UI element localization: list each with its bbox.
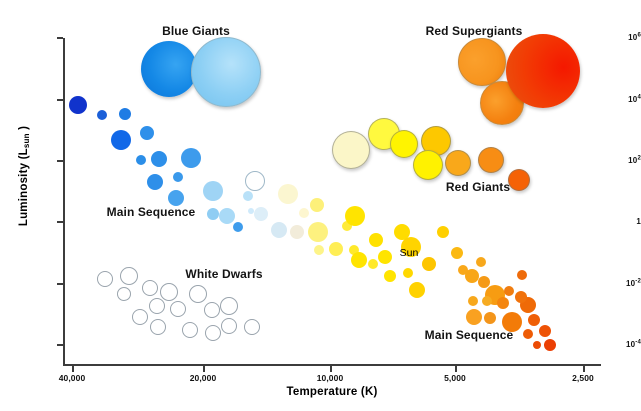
star-marker <box>243 191 253 201</box>
star-marker <box>244 319 260 335</box>
star-marker <box>533 341 541 349</box>
x-tick-mark <box>203 366 205 372</box>
star-marker <box>299 208 309 218</box>
region-annotation-label: White Dwarfs <box>185 267 262 281</box>
star-marker <box>390 130 418 158</box>
star-marker <box>150 319 166 335</box>
y-tick-mark <box>57 221 63 223</box>
star-marker <box>69 96 87 114</box>
region-annotation-label: Main Sequence <box>425 328 514 342</box>
y-tick-label: 10-2 <box>595 280 641 288</box>
region-annotation-label: Blue Giants <box>162 24 230 38</box>
star-marker <box>120 267 138 285</box>
star-marker <box>310 198 324 212</box>
star-marker <box>497 297 509 309</box>
star-marker <box>413 150 443 180</box>
star-marker <box>191 37 261 107</box>
star-marker <box>271 222 287 238</box>
star-marker <box>147 174 163 190</box>
y-tick-mark <box>57 160 63 162</box>
x-axis-title: Temperature (K) <box>63 386 601 398</box>
star-marker <box>203 181 223 201</box>
star-marker <box>254 207 268 221</box>
star-marker <box>168 190 184 206</box>
star-marker <box>149 298 165 314</box>
point-annotation-label: Sun <box>400 247 419 259</box>
star-marker <box>132 309 148 325</box>
y-tick-mark <box>57 283 63 285</box>
star-marker <box>221 318 237 334</box>
hr-diagram-figure: 106104102110-210-4 40,00020,00010,0005,0… <box>0 0 641 411</box>
star-marker <box>476 257 486 267</box>
star-marker <box>182 322 198 338</box>
y-tick-label: 104 <box>595 96 641 104</box>
star-marker <box>332 131 370 169</box>
star-marker <box>97 271 113 287</box>
star-marker <box>170 301 186 317</box>
star-marker <box>173 172 183 182</box>
star-marker <box>437 226 449 238</box>
y-axis-title-subscript: sun <box>22 133 31 148</box>
x-tick-label: 2,500 <box>572 373 594 383</box>
star-marker <box>368 259 378 269</box>
star-marker <box>136 155 146 165</box>
star-marker <box>409 282 425 298</box>
star-marker <box>314 245 324 255</box>
y-tick-label: 1 <box>595 218 641 226</box>
star-marker <box>140 126 154 140</box>
y-tick-label: 106 <box>595 34 641 42</box>
star-marker <box>369 233 383 247</box>
y-tick-label: 10-4 <box>595 341 641 349</box>
y-axis-title: Luminosity (Lsun ) <box>18 96 30 256</box>
star-marker <box>539 325 551 337</box>
x-tick-label: 5,000 <box>444 373 466 383</box>
star-marker <box>160 283 178 301</box>
star-marker <box>515 291 527 303</box>
star-marker <box>506 34 580 108</box>
x-tick-label: 40,000 <box>59 373 86 383</box>
y-tick-mark <box>57 99 63 101</box>
star-marker <box>97 110 107 120</box>
star-marker <box>482 296 492 306</box>
star-marker <box>544 339 556 351</box>
star-marker <box>468 296 478 306</box>
star-marker <box>465 269 479 283</box>
star-marker <box>458 38 506 86</box>
x-tick-mark <box>583 366 585 372</box>
star-marker <box>384 270 396 282</box>
star-marker <box>278 184 298 204</box>
y-tick-mark <box>57 37 63 39</box>
star-marker <box>403 268 413 278</box>
star-marker <box>142 280 158 296</box>
region-annotation-label: Red Giants <box>446 180 510 194</box>
star-marker <box>204 302 220 318</box>
x-axis-line <box>63 364 601 366</box>
star-marker <box>219 208 235 224</box>
star-marker <box>484 312 496 324</box>
star-marker <box>111 130 131 150</box>
star-marker <box>351 252 367 268</box>
y-axis-line <box>63 38 65 366</box>
x-tick-label: 20,000 <box>190 373 217 383</box>
star-marker <box>119 108 131 120</box>
star-marker <box>181 148 201 168</box>
star-marker <box>528 314 540 326</box>
star-marker <box>308 222 328 242</box>
star-marker <box>508 169 530 191</box>
star-marker <box>451 247 463 259</box>
star-marker <box>151 151 167 167</box>
x-tick-mark <box>72 366 74 372</box>
star-marker <box>517 270 527 280</box>
star-marker <box>220 297 238 315</box>
star-marker <box>523 329 533 339</box>
star-marker <box>189 285 207 303</box>
x-tick-label: 10,000 <box>317 373 344 383</box>
star-marker <box>233 222 243 232</box>
star-marker <box>445 150 471 176</box>
x-tick-mark <box>455 366 457 372</box>
star-marker <box>345 206 365 226</box>
x-tick-mark <box>330 366 332 372</box>
star-marker <box>466 309 482 325</box>
region-annotation-label: Main Sequence <box>107 205 196 219</box>
star-marker <box>290 225 304 239</box>
star-marker <box>329 242 343 256</box>
region-annotation-label: Red Supergiants <box>426 24 523 38</box>
y-axis-title-text: Luminosity (L <box>18 148 30 226</box>
star-marker <box>245 171 265 191</box>
star-marker <box>478 147 504 173</box>
y-tick-mark <box>57 344 63 346</box>
star-marker <box>117 287 131 301</box>
star-marker <box>504 286 514 296</box>
y-tick-label: 102 <box>595 157 641 165</box>
star-marker <box>422 257 436 271</box>
star-marker <box>378 250 392 264</box>
star-marker <box>141 41 197 97</box>
star-marker <box>205 325 221 341</box>
star-marker <box>207 208 219 220</box>
